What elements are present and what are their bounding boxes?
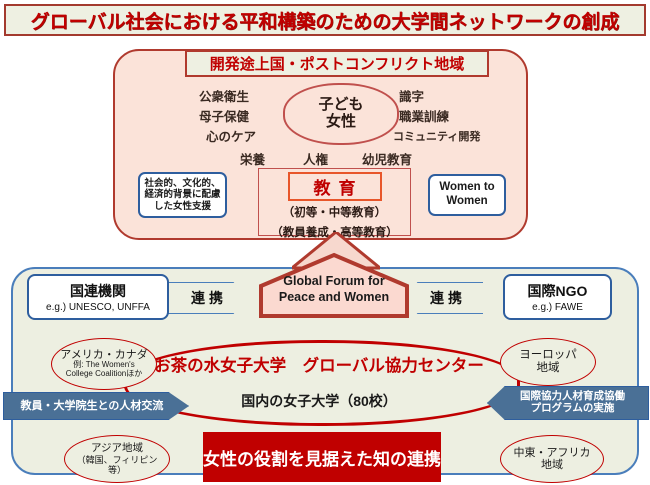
callout-faculty-exchange: 教員・大学院生との人材交流: [3, 392, 189, 420]
education-box: 教育 （初等・中等教育） （教員養成・高等教育）: [258, 168, 411, 236]
linkage-label-right: 連携: [422, 288, 466, 308]
women-label: 女性: [326, 114, 356, 131]
children-women-ellipse: 子ども 女性: [283, 83, 399, 145]
callout-cooperation-line2: プログラムの実施: [522, 403, 615, 415]
women-support-box: 社会的、文化的、 経済的背景に配慮 した女性支援: [138, 172, 227, 218]
keyword-public-health: 公衆衛生: [199, 86, 249, 105]
un-agencies-box: 国連機関 e.g.) UNESCO, UNFFA: [27, 274, 169, 320]
women-to-women-box: Women to Women: [428, 174, 506, 216]
region-asia: アジア地域 （韓国、フィリピン 等）: [64, 435, 170, 483]
region-mideast-line1: 中東・アフリカ: [514, 447, 591, 459]
education-title: 教育: [288, 172, 382, 201]
keyword-vocational-training: 職業訓練: [399, 106, 449, 125]
callout-faculty-exchange-text: 教員・大学院生との人材交流: [29, 400, 164, 412]
diagram-title-banner: グローバル社会における平和構築のための大学間ネットワークの創成: [4, 4, 646, 36]
region-america-line3: College Coalitionほか: [66, 370, 142, 379]
global-forum-line1: Global Forum for: [258, 274, 410, 290]
international-ngo-name: 国際NGO: [528, 281, 588, 301]
keyword-early-childhood-education: 幼児教育: [362, 149, 412, 168]
women-to-women-line2: Women: [446, 195, 487, 209]
global-forum-line2: Peace and Women: [258, 290, 410, 306]
education-sub-primary-secondary: （初等・中等教育）: [283, 204, 387, 220]
keyword-community-development: コミュニティ開発: [393, 128, 480, 144]
international-ngo-box: 国際NGO e.g.) FAWE: [503, 274, 612, 320]
keyword-human-rights: 人権: [303, 149, 328, 168]
keyword-literacy: 識字: [399, 86, 424, 105]
linkage-arrow-left: 連携: [168, 282, 246, 314]
region-europe-line2: 地域: [537, 362, 560, 375]
keyword-maternal-child-health: 母子保健: [199, 106, 249, 125]
diagram-canvas: グローバル社会における平和構築のための大学間ネットワークの創成 開発途上国・ポス…: [0, 0, 650, 485]
region-europe-line1: ヨーロッパ: [519, 349, 577, 362]
bottom-red-banner: 女性の役割を見据えた知の連携: [203, 432, 441, 482]
keyword-nutrition: 栄養: [240, 149, 265, 168]
developing-countries-header: 開発途上国・ポストコンフリクト地域: [185, 50, 489, 77]
international-ngo-examples: e.g.) FAWE: [532, 302, 583, 313]
global-forum-text: Global Forum for Peace and Women: [258, 274, 410, 305]
region-america-canada: アメリカ・カナダ 例: The Women's College Coalitio…: [51, 338, 157, 390]
women-support-line1: 社会的、文化的、: [144, 178, 220, 189]
region-mideast-line2: 地域: [541, 459, 563, 471]
women-to-women-line1: Women to: [439, 181, 494, 195]
region-asia-line1: アジア地域: [91, 443, 143, 455]
diagram-title-text: グローバル社会における平和構築のための大学間ネットワークの創成: [31, 7, 620, 34]
callout-cooperation-program: 国際協力人材育成協働 プログラムの実施: [487, 386, 649, 420]
global-forum-shape: Global Forum for Peace and Women: [258, 252, 410, 319]
women-support-line2: 経済的背景に配慮: [144, 189, 220, 200]
ochanomizu-center-title: お茶の水女子大学 グローバル協力センター: [124, 352, 514, 376]
un-agencies-name: 国連機関: [70, 281, 126, 301]
children-label: 子ども: [318, 97, 363, 114]
region-middle-east-africa: 中東・アフリカ 地域: [500, 435, 604, 483]
linkage-label-left: 連携: [187, 288, 227, 308]
region-europe: ヨーロッパ 地域: [500, 338, 596, 386]
women-support-line3: した女性支援: [154, 201, 211, 212]
keyword-mental-care: 心のケア: [206, 126, 256, 145]
bottom-red-banner-text: 女性の役割を見据えた知の連携: [203, 445, 441, 470]
region-asia-line3: 等）: [108, 465, 126, 475]
region-asia-line2: （韓国、フィリピン: [77, 455, 158, 465]
linkage-arrow-right: 連携: [405, 282, 483, 314]
developing-countries-header-text: 開発途上国・ポストコンフリクト地域: [210, 53, 465, 74]
un-agencies-examples: e.g.) UNESCO, UNFFA: [46, 302, 150, 313]
